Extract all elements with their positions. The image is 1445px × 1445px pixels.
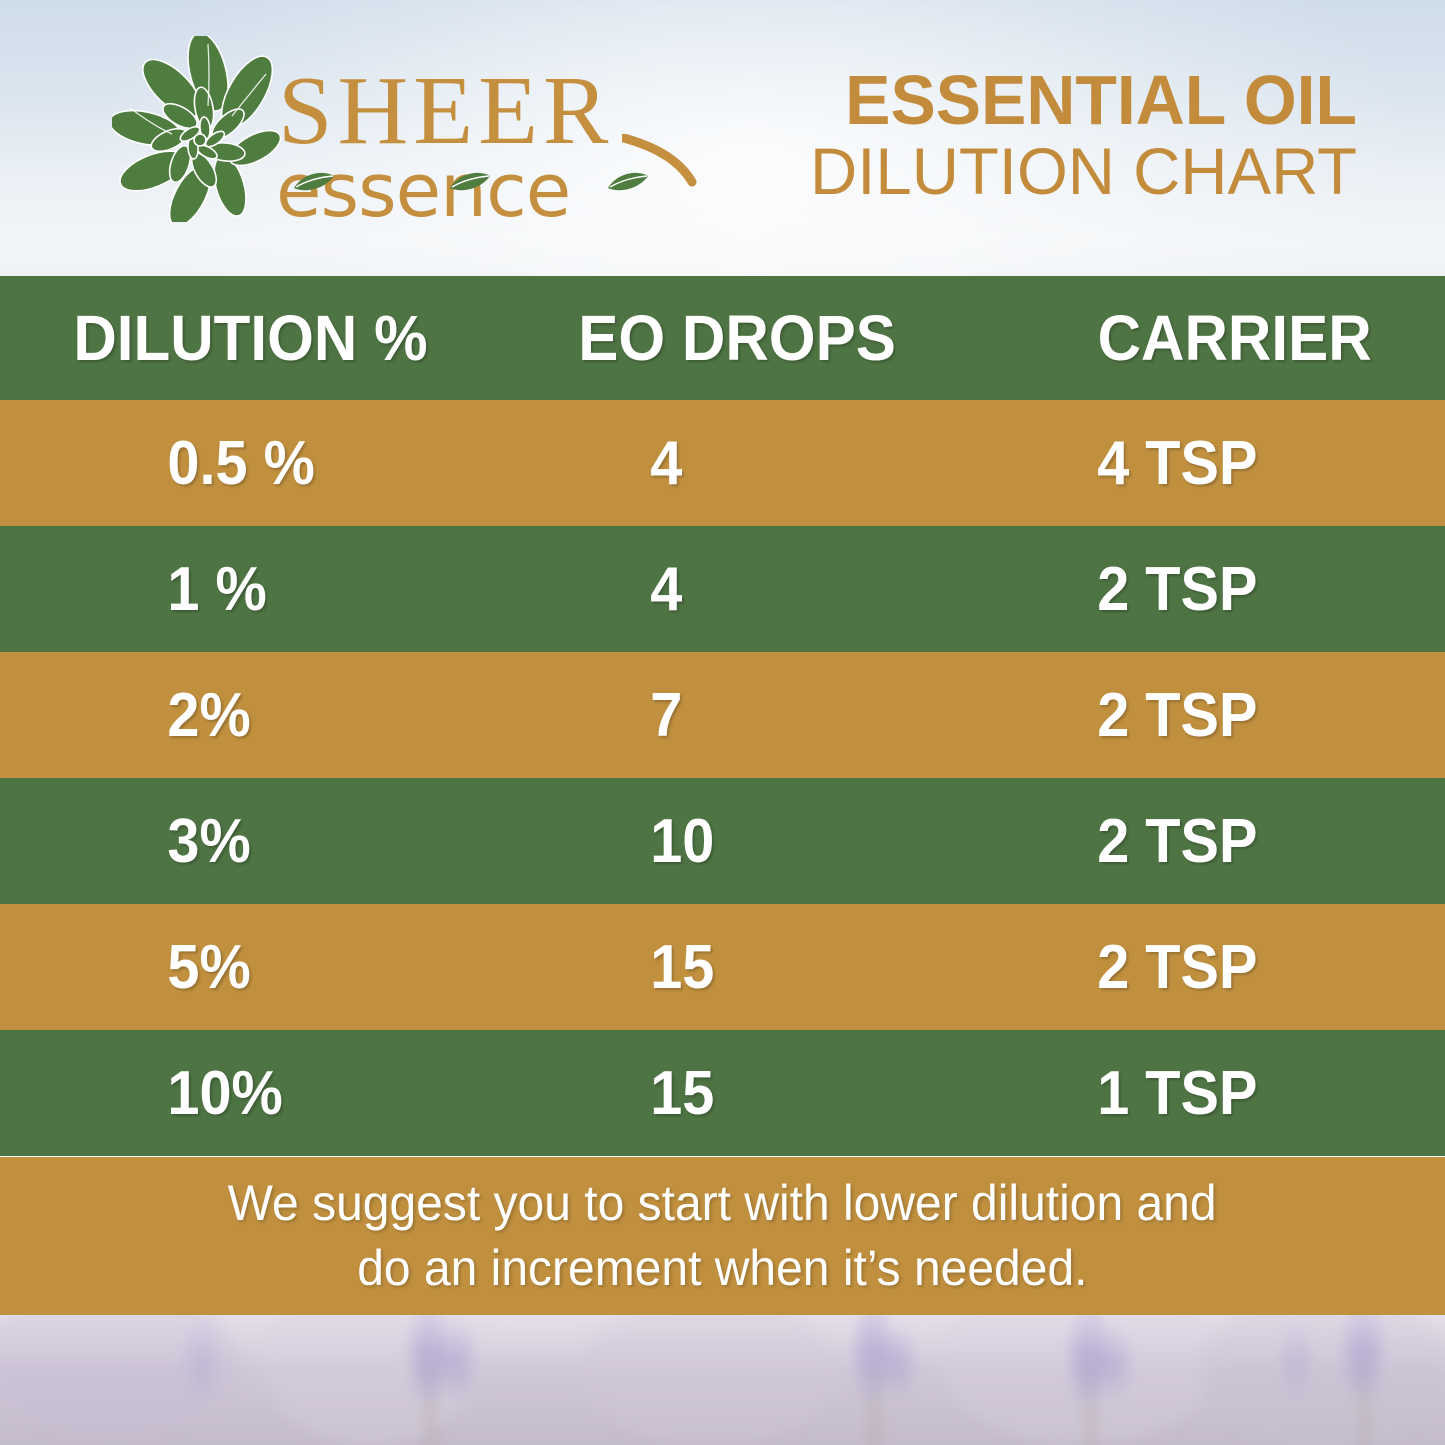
dilution-table: DILUTION % EO DROPS CARRIER 0.5 % 4 4 TS… [0,276,1445,1156]
photo-haze-overlay [0,1315,1445,1445]
table-row: 10% 15 1 TSP [0,1030,1445,1156]
suggestion-note-line1: We suggest you to start with lower dilut… [228,1171,1217,1236]
cell-dilution: 3% [0,806,484,877]
table-row: 0.5 % 4 4 TSP [0,400,1445,526]
dilution-chart-page: SHEER essence [0,0,1445,1445]
page-title-line1: ESSENTIAL OIL [814,66,1357,135]
cell-dilution: 1 % [0,554,484,625]
cell-dilution: 5% [0,932,484,1003]
brand-name-essence: essence [276,154,570,228]
page-title: ESSENTIAL OIL DILUTION CHART [797,66,1357,205]
page-header: SHEER essence [0,0,1445,276]
column-header-dilution: DILUTION % [0,301,489,375]
suggestion-note: We suggest you to start with lower dilut… [0,1157,1445,1315]
cell-eo-drops: 15 [520,932,1022,1003]
cell-carrier: 4 TSP [1060,428,1418,499]
leaf-rosette-logo-icon [112,36,284,222]
table-row: 3% 10 2 TSP [0,778,1445,904]
cell-eo-drops: 4 [520,428,1022,499]
brand-name-sheer: SHEER [278,62,613,160]
column-header-eo-drops: EO DROPS [520,301,1028,375]
cell-eo-drops: 15 [520,1058,1022,1129]
cell-carrier: 2 TSP [1060,932,1418,1003]
page-title-line2: DILUTION CHART [803,137,1357,206]
cell-carrier: 2 TSP [1060,680,1418,751]
cell-dilution: 10% [0,1058,484,1129]
cell-dilution: 2% [0,680,484,751]
table-header-row: DILUTION % EO DROPS CARRIER [0,276,1445,400]
cell-eo-drops: 10 [520,806,1022,877]
cell-eo-drops: 4 [520,554,1022,625]
brand-wordmark: SHEER essence [270,62,700,232]
leaf-accent-icon-3 [606,170,650,194]
cell-carrier: 2 TSP [1060,554,1418,625]
cell-carrier: 1 TSP [1060,1058,1418,1129]
table-row: 5% 15 2 TSP [0,904,1445,1030]
cell-carrier: 2 TSP [1060,806,1418,877]
cell-eo-drops: 7 [520,680,1022,751]
cell-dilution: 0.5 % [0,428,484,499]
suggestion-note-line2: do an increment when it’s needed. [357,1236,1087,1301]
lavender-field-photo [0,1315,1445,1445]
table-row: 2% 7 2 TSP [0,652,1445,778]
table-row: 1 % 4 2 TSP [0,526,1445,652]
column-header-carrier: CARRIER [1060,301,1422,375]
